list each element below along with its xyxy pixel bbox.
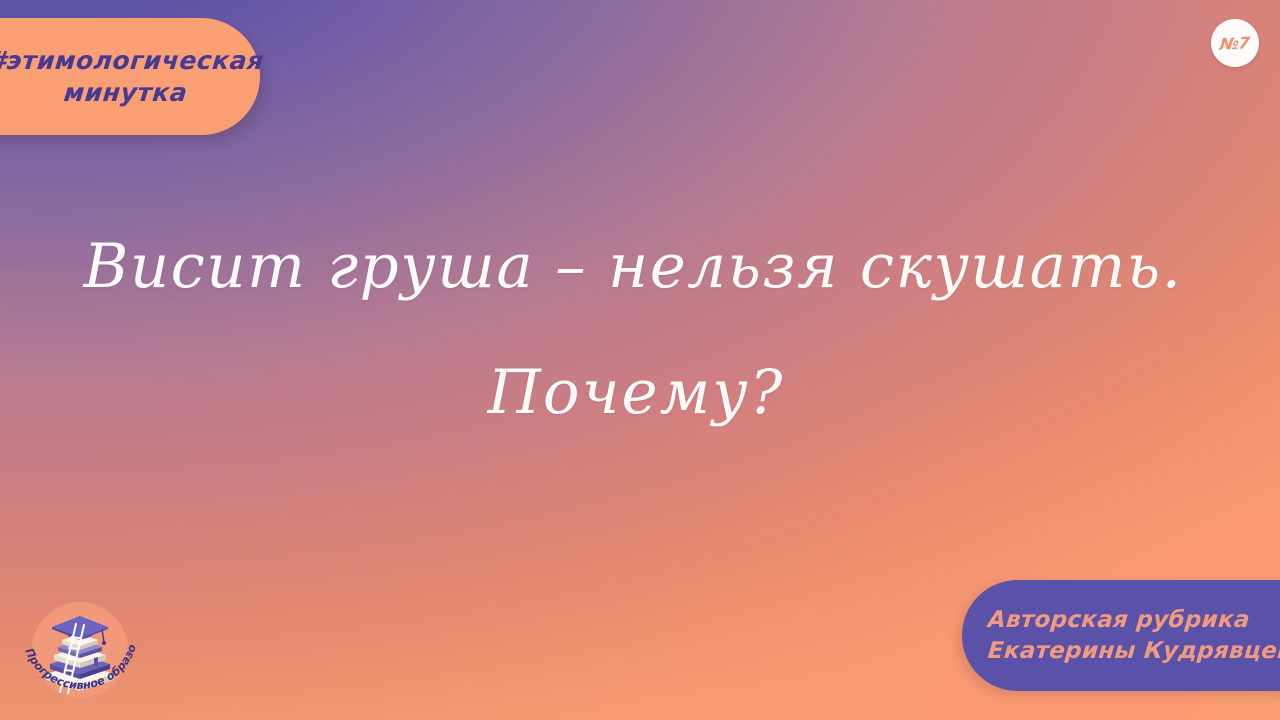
author-badge: Авторская рубрика Екатерины Кудрявцевой <box>962 580 1280 691</box>
quote-line-1: Висит груша – нельзя скушать. <box>0 236 1280 298</box>
hashtag-badge-line1: #этимологическая <box>0 45 265 77</box>
slide-number-badge: №7 <box>1211 19 1259 67</box>
brand-logo-graphic: Прогрессивное образование <box>24 596 136 708</box>
slide-canvas: #этимологическая минутка №7 Висит груша … <box>0 0 1280 720</box>
quote-line-2: Почему? <box>0 362 1280 424</box>
hashtag-badge-line2: минутка <box>63 77 190 109</box>
author-badge-line1: Авторская рубрика <box>987 605 1252 636</box>
slide-number-label: №7 <box>1219 33 1250 54</box>
quote-block: Висит груша – нельзя скушать. Почему? <box>0 236 1280 424</box>
hashtag-badge: #этимологическая минутка <box>0 18 260 135</box>
brand-logo: Прогрессивное образование <box>24 596 136 708</box>
author-badge-line2: Екатерины Кудрявцевой <box>987 636 1280 667</box>
